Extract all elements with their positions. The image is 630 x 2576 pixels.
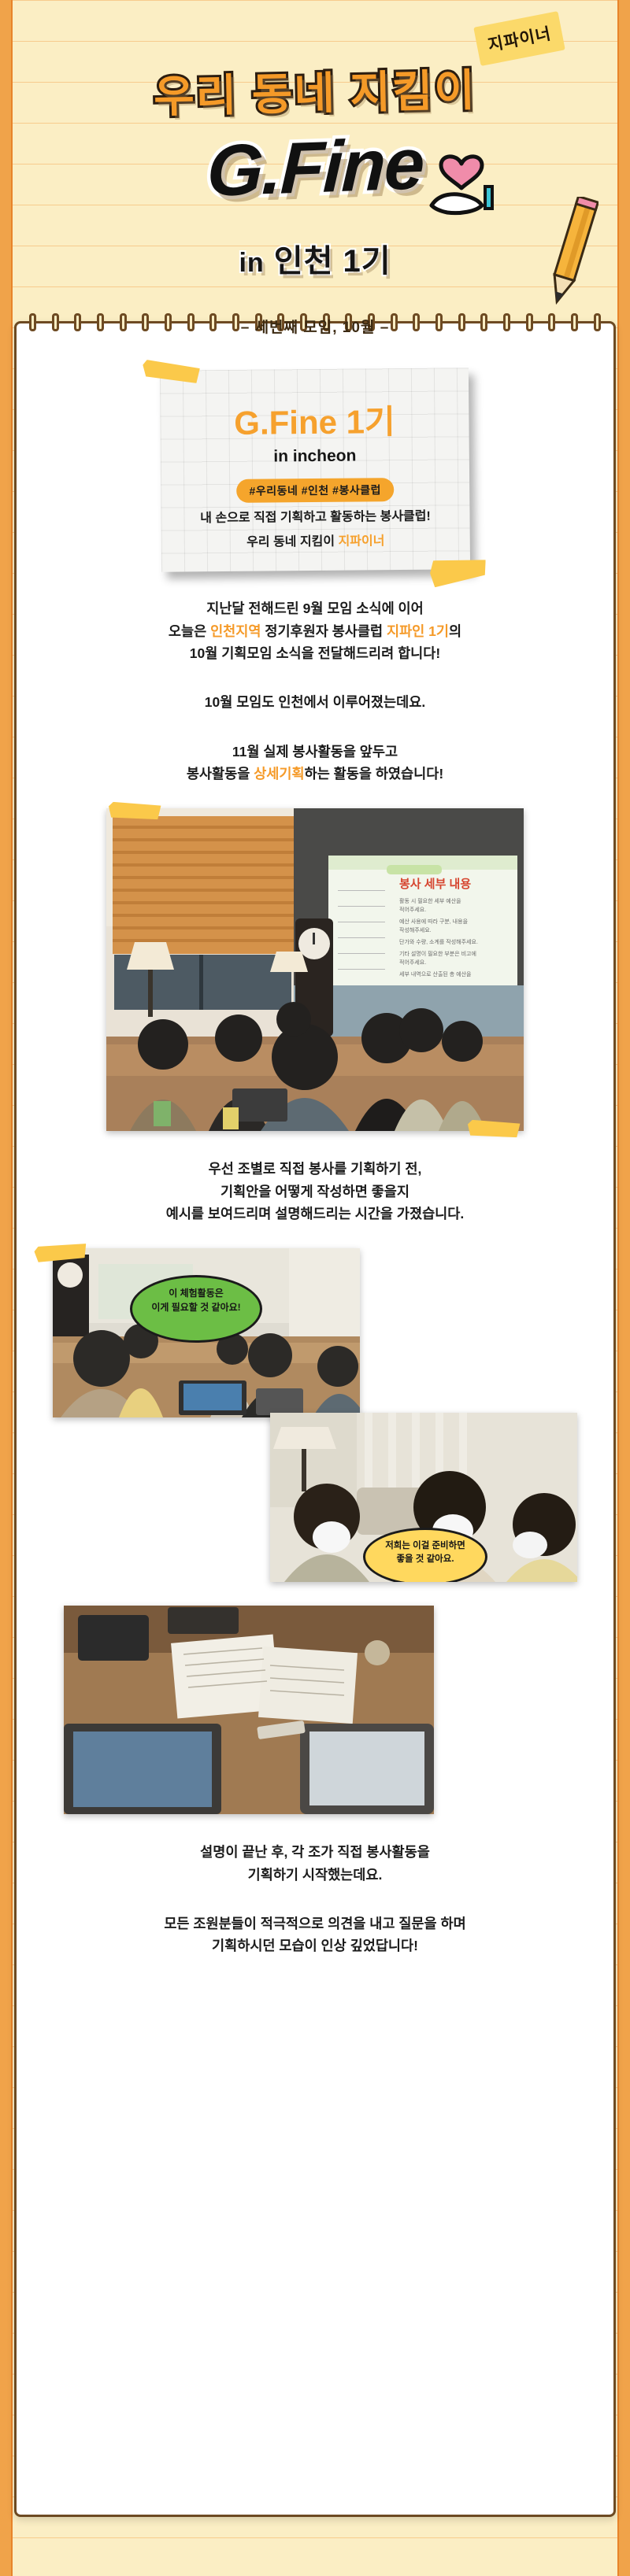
paragraph-closing-line2: 기획하시던 모습이 인상 깊었답니다! [53, 1935, 577, 1957]
subtitle-in: in [239, 248, 264, 278]
paragraph-closing-line1: 모든 조원분들이 적극적으로 의견을 내고 질문을 하며 [53, 1913, 577, 1935]
card-desc-1: 내 손으로 직접 기획하고 활동하는 봉사클럽! [175, 508, 455, 527]
pencil-icon [543, 197, 598, 307]
photo-block-3: 저희는 이걸 준비하면 좋을 것 같아요. [17, 1413, 613, 1582]
p3-seg-a: 봉사활동을 [187, 766, 254, 782]
p1-seg-d: 지파인 1기 [387, 623, 449, 639]
brand-title: G.Fine [206, 123, 424, 213]
photo-block-2: 이 체험활동은 이게 필요할 것 같아요! [17, 1248, 613, 1417]
paragraph-after-explain: 설명이 끝난 후, 각 조가 직접 봉사활동을 기획하기 시작했는데요. [53, 1841, 577, 1886]
intro-card: G.Fine 1기 in incheon #우리동네 #인천 #봉사클럽 내 손… [161, 369, 469, 571]
svg-text:단가와 수량, 소계를 작성해주세요.: 단가와 수량, 소계를 작성해주세요. [399, 938, 478, 945]
subtitle-location: in 인천 1기 [0, 235, 630, 281]
svg-text:활동 시 필요한 세부 예산을: 활동 시 필요한 세부 예산을 [399, 897, 461, 904]
svg-text:예산 사용에 따라 구분, 내용을: 예산 사용에 따라 구분, 내용을 [399, 918, 469, 925]
paragraph-closing: 모든 조원분들이 적극적으로 의견을 내고 질문을 하며 기획하시던 모습이 인… [53, 1913, 577, 1957]
svg-text:작성해주세요.: 작성해주세요. [399, 926, 432, 933]
paragraph-plan-line1: 11월 실제 봉사활동을 앞두고 [53, 741, 577, 763]
paragraph-example-line2: 기획안을 어떻게 작성하면 좋을지 [53, 1181, 577, 1203]
paragraph-intro-line1: 지난달 전해드린 9월 모임 소식에 이어 [53, 597, 577, 619]
speech-bubble-yellow: 저희는 이걸 준비하면 좋을 것 같아요. [363, 1528, 487, 1582]
bubble-green-line1: 이 체험활동은 [143, 1287, 249, 1300]
bubble-green-line2: 이게 필요할 것 같아요! [143, 1301, 249, 1314]
right-edge-band [619, 0, 630, 2576]
meeting-date-label: – 세번째 모임, 10월 – [0, 316, 630, 337]
subtitle-city: 인천 1기 [274, 244, 391, 279]
brand-title-row: G.Fine [0, 127, 630, 221]
documents-closeup-photo [64, 1606, 434, 1814]
paragraph-plan: 11월 실제 봉사활동을 앞두고 봉사활동을 상세기획하는 활동을 하였습니다! [53, 741, 577, 785]
meeting-presentation-photo: 봉사 세부 내용 활동 시 필요한 세부 예산을 적어주세요. 예산 사용에 따… [106, 808, 524, 1131]
paragraph-after-explain-line1: 설명이 끝난 후, 각 조가 직접 봉사활동을 [53, 1841, 577, 1863]
paragraph-intro-line3: 10월 기획모임 소식을 전달해드리려 합니다! [53, 642, 577, 664]
table-discussion-photo: 이 체험활동은 이게 필요할 것 같아요! [53, 1248, 360, 1417]
svg-text:적어주세요.: 적어주세요. [399, 959, 426, 966]
photo-block-1: 봉사 세부 내용 활동 시 필요한 세부 예산을 적어주세요. 예산 사용에 따… [17, 808, 613, 1131]
photo-block-4 [17, 1606, 613, 1814]
p3-seg-b: 상세기획 [254, 766, 304, 782]
card-hashtags: #우리동네 #인천 #봉사클럽 [236, 478, 394, 503]
paragraph-location: 10월 모임도 인천에서 이루어졌는데요. [53, 691, 577, 713]
p1-seg-a: 오늘은 [169, 623, 210, 639]
paragraph-example-line1: 우선 조별로 직접 봉사를 기획하기 전, [53, 1158, 577, 1180]
card-desc-2-plain: 우리 동네 지킴이 [246, 534, 339, 549]
bubble-yellow-line1: 저희는 이걸 준비하면 [376, 1539, 474, 1553]
three-members-planning-photo: 저희는 이걸 준비하면 좋을 것 같아요. [270, 1413, 577, 1582]
paragraph-intro: 지난달 전해드린 9월 모임 소식에 이어 오늘은 인천지역 정기후원자 봉사클… [53, 597, 577, 664]
card-title: G.Fine 1기 [174, 394, 455, 445]
p1-seg-e: 의 [449, 623, 461, 639]
card-subtitle: in incheon [175, 445, 455, 467]
speech-bubble-green: 이 체험활동은 이게 필요할 것 같아요! [130, 1275, 262, 1343]
paragraph-example-line3: 예시를 보여드리며 설명해드리는 시간을 가졌습니다. [53, 1203, 577, 1225]
paragraph-example: 우선 조별로 직접 봉사를 기획하기 전, 기획안을 어떻게 작성하면 좋을지 … [53, 1158, 577, 1225]
page-root: 지파이너 우리 동네 지킴이 G.Fine in 인천 1기 – 세번째 모임,… [0, 0, 630, 2576]
open-hand-icon [425, 138, 498, 216]
svg-text:봉사 세부 내용: 봉사 세부 내용 [399, 878, 471, 891]
page-title: 우리 동네 지킴이 [0, 52, 630, 129]
p1-seg-c: 정기후원자 봉사클럽 [261, 623, 387, 639]
paragraph-plan-line2: 봉사활동을 상세기획하는 활동을 하였습니다! [53, 763, 577, 785]
paragraph-after-explain-line2: 기획하기 시작했는데요. [53, 1864, 577, 1886]
p1-seg-b: 인천지역 [210, 623, 261, 639]
svg-text:세부 내역으로 산출된 총 예산을: 세부 내역으로 산출된 총 예산을 [399, 970, 472, 978]
p3-seg-c: 하는 활동을 하였습니다! [305, 766, 444, 782]
bubble-yellow-line2: 좋을 것 같아요. [376, 1553, 474, 1566]
intro-card-body: G.Fine 1기 in incheon #우리동네 #인천 #봉사클럽 내 손… [160, 368, 470, 572]
svg-text:적어주세요.: 적어주세요. [399, 906, 426, 913]
svg-text:기타 설명이 필요한 부분은 비고에: 기타 설명이 필요한 부분은 비고에 [399, 950, 476, 957]
card-desc-2-highlight: 지파이너 [338, 534, 384, 549]
paragraph-intro-line2: 오늘은 인천지역 정기후원자 봉사클럽 지파인 1기의 [53, 620, 577, 642]
notebook-panel: G.Fine 1기 in incheon #우리동네 #인천 #봉사클럽 내 손… [14, 321, 616, 2517]
card-desc-2: 우리 동네 지킴이 지파이너 [176, 532, 456, 552]
header: 지파이너 우리 동네 지킴이 G.Fine in 인천 1기 – 세번째 모임,… [0, 0, 630, 315]
left-edge-band [0, 0, 11, 2576]
